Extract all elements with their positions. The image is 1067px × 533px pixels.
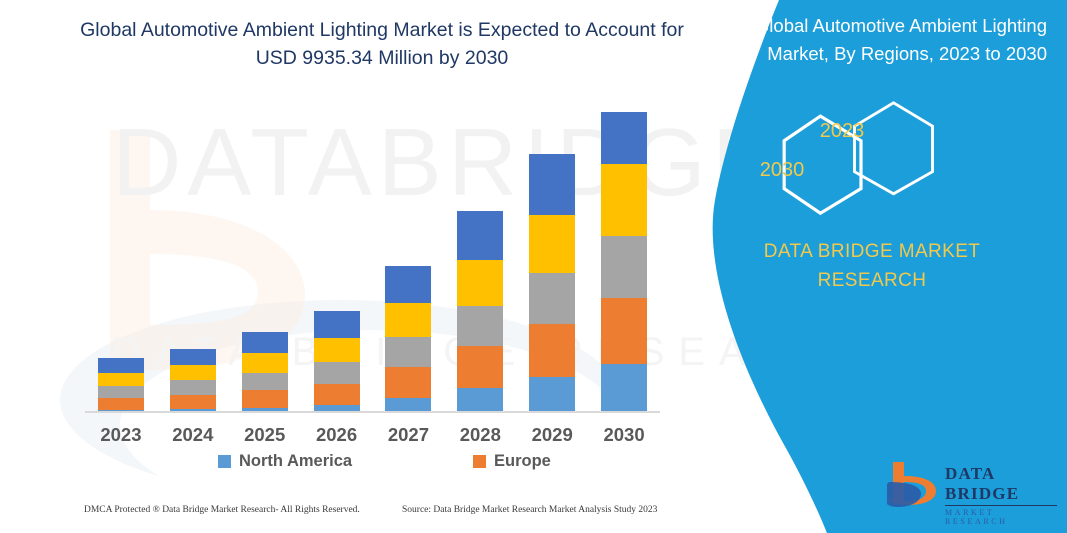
x-axis-label-2028: 2028: [445, 424, 515, 446]
bar-2029: [529, 154, 575, 412]
bar-segment: [457, 260, 503, 306]
bar-segment: [242, 373, 288, 391]
logo-line-2: MARKET RESEARCH: [945, 508, 1057, 526]
side-panel: Global Automotive Ambient Lighting Marke…: [667, 0, 1067, 533]
bar-segment: [170, 395, 216, 409]
x-axis-label-2029: 2029: [517, 424, 587, 446]
bar-segment: [385, 337, 431, 368]
legend-label: Europe: [494, 452, 551, 471]
logo-line-1: DATA BRIDGE: [945, 464, 1057, 506]
bar-segment: [529, 215, 575, 273]
hexagon-label-2030: 2030: [760, 159, 805, 181]
bar-2023: [98, 358, 144, 412]
bar-segment: [601, 236, 647, 298]
bar-segment: [385, 398, 431, 412]
bar-segment: [601, 112, 647, 163]
bar-2028: [457, 211, 503, 412]
bar-2027: [385, 266, 431, 412]
x-axis-label-2030: 2030: [589, 424, 659, 446]
x-axis-label-2027: 2027: [373, 424, 443, 446]
bar-segment: [98, 358, 144, 372]
bar-segment: [170, 380, 216, 394]
bar-segment: [170, 349, 216, 365]
legend-label: North America: [239, 452, 352, 471]
bar-segment: [314, 311, 360, 337]
bar-2024: [170, 349, 216, 412]
logo-b-icon: [887, 460, 939, 508]
bar-2026: [314, 311, 360, 412]
bar-segment: [457, 211, 503, 260]
bar-segment: [314, 362, 360, 384]
bar-segment: [98, 386, 144, 398]
footer-source: Source: Data Bridge Market Research Mark…: [402, 505, 657, 515]
bar-segment: [385, 266, 431, 302]
bar-segment: [457, 346, 503, 388]
bar-2025: [242, 332, 288, 412]
bar-segment: [170, 365, 216, 380]
hexagon-outline-2023: [855, 103, 933, 194]
x-axis-labels: 20232024202520262027202820292030: [85, 424, 660, 452]
bar-segment: [242, 332, 288, 353]
bar-segment: [529, 377, 575, 412]
bar-chart-plot: [85, 100, 660, 412]
bar-segment: [242, 390, 288, 408]
hexagon-svg: 2030 2023: [667, 90, 1067, 220]
legend-item-north-america[interactable]: North America: [218, 452, 352, 471]
legend-item-europe[interactable]: Europe: [473, 452, 551, 471]
hexagon-group: 2030 2023: [667, 90, 1067, 220]
bar-segment: [385, 367, 431, 398]
company-logo: DATA BRIDGE MARKET RESEARCH: [887, 458, 1057, 514]
bar-segment: [601, 298, 647, 364]
bar-segment: [385, 303, 431, 337]
legend-swatch-icon: [218, 455, 231, 468]
bar-segment: [98, 373, 144, 386]
side-panel-title: Global Automotive Ambient Lighting Marke…: [727, 12, 1047, 68]
page-title: Global Automotive Ambient Lighting Marke…: [72, 16, 692, 73]
bar-segment: [457, 388, 503, 412]
bar-segment: [601, 364, 647, 412]
x-axis-label-2025: 2025: [230, 424, 300, 446]
footer-copyright: DMCA Protected ® Data Bridge Market Rese…: [84, 505, 360, 515]
bar-segment: [98, 398, 144, 410]
x-axis-label-2023: 2023: [86, 424, 156, 446]
bar-segment: [314, 338, 360, 362]
chart-legend: North AmericaEurope: [85, 452, 660, 484]
bar-segment: [242, 353, 288, 373]
bar-segment: [314, 384, 360, 406]
hexagon-label-2023: 2023: [820, 120, 865, 142]
footer: DMCA Protected ® Data Bridge Market Rese…: [0, 505, 720, 527]
bar-2030: [601, 112, 647, 412]
x-axis-label-2024: 2024: [158, 424, 228, 446]
x-axis-line: [85, 411, 660, 413]
chart-panel: Global Automotive Ambient Lighting Marke…: [0, 0, 740, 533]
bar-segment: [601, 164, 647, 236]
bar-segment: [529, 273, 575, 324]
legend-swatch-icon: [473, 455, 486, 468]
infographic-root: DATABRIDGE DATA BRIDGE RESEARCH Global A…: [0, 0, 1067, 533]
brand-name: DATA BRIDGE MARKET RESEARCH: [707, 238, 1037, 295]
bar-segment: [457, 306, 503, 347]
bar-segment: [529, 324, 575, 377]
logo-wordmark: DATA BRIDGE MARKET RESEARCH: [945, 464, 1057, 526]
bar-segment: [529, 154, 575, 215]
x-axis-label-2026: 2026: [302, 424, 372, 446]
